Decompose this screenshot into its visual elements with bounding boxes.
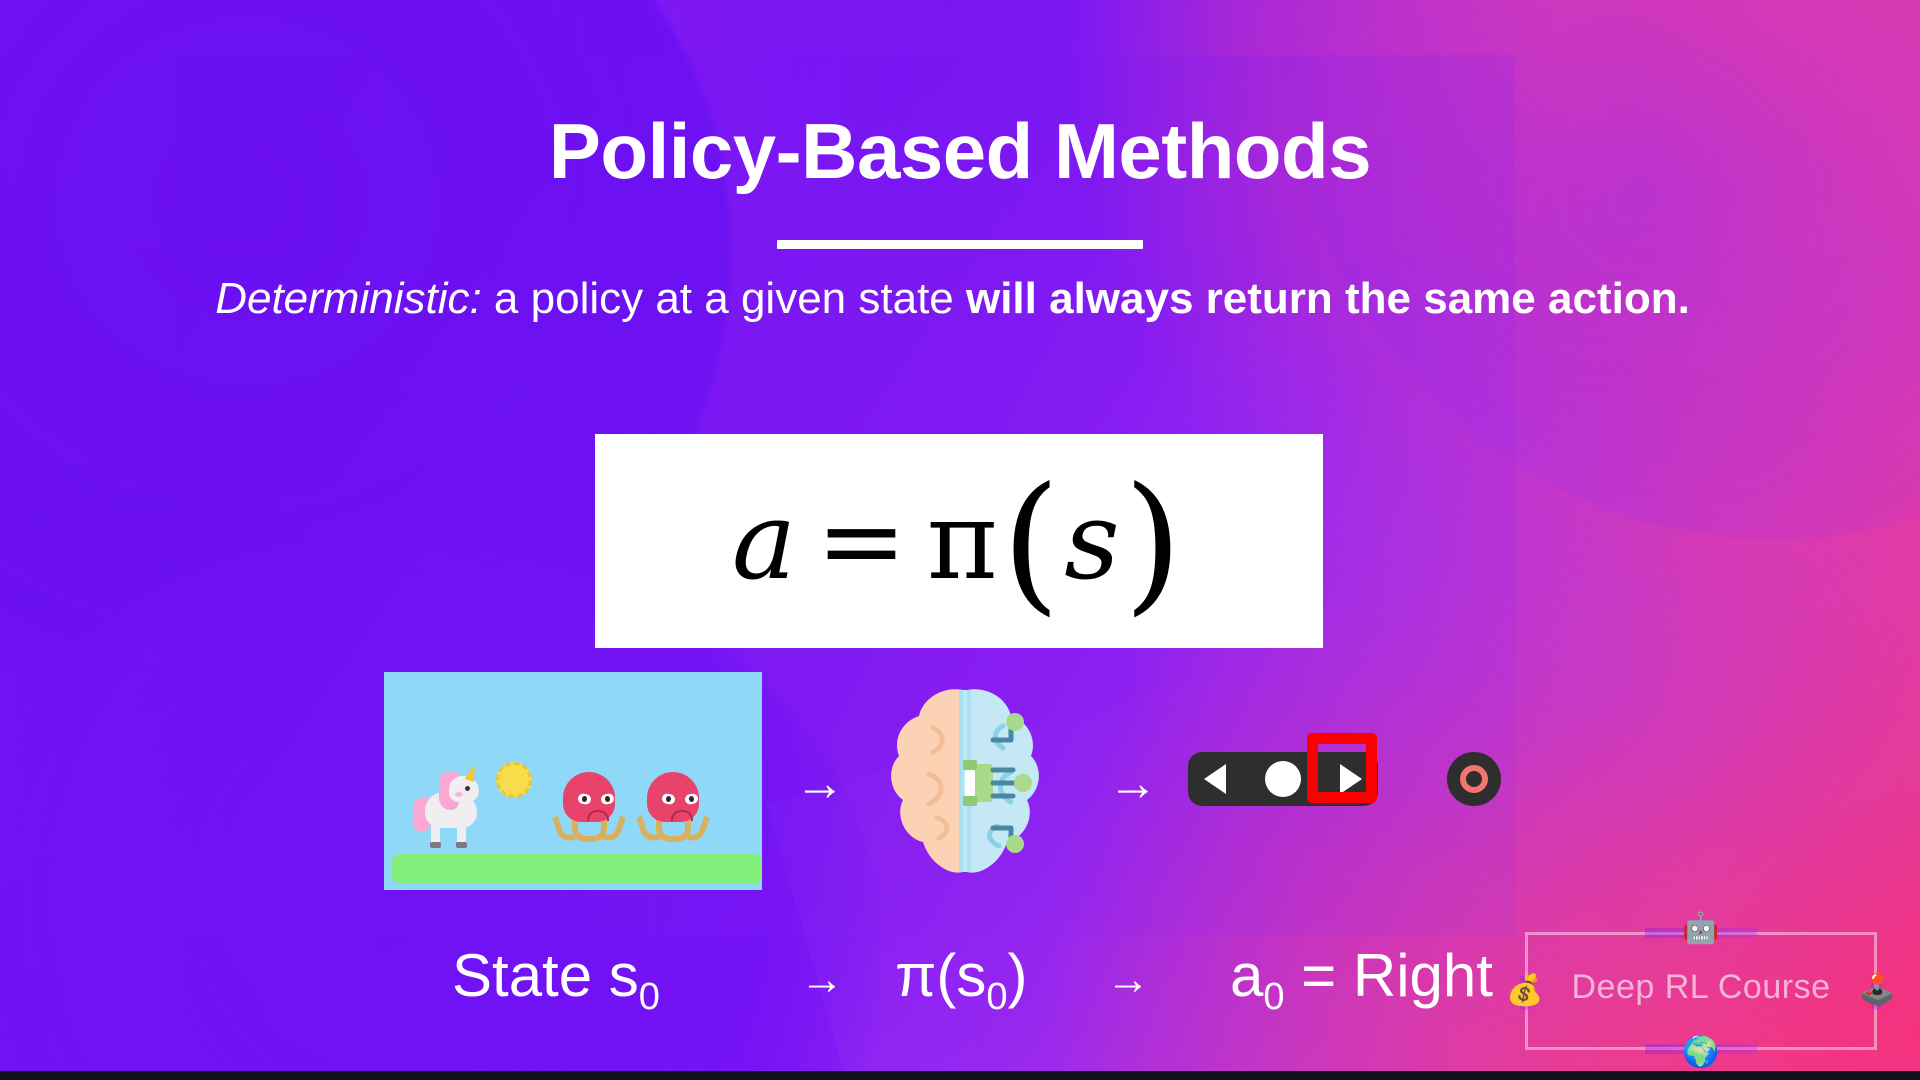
unicorn-cheek [455,792,463,797]
game-enemy-octopus [640,772,706,846]
formula-expression: a=π(s) [732,479,1186,604]
game-coin [496,762,532,798]
caption-state: State s0 [452,946,660,1016]
caption-state-subscript: 0 [639,976,660,1018]
octopus-eye [577,793,592,805]
subtitle-text: Deterministic: a policy at a given state… [190,272,1715,326]
pipeline-row: → [0,672,1920,894]
octopus-mouth [671,810,693,821]
joystick-icon: 🕹️ [1859,976,1896,1006]
octopus-eye [600,793,615,805]
formula-operator: = [800,479,927,604]
game-unicorn-agent [409,764,483,850]
dpad-knob-icon[interactable] [1265,761,1301,797]
octopus-eye [684,793,699,805]
formula-open-paren: ( [1002,456,1065,630]
formula-argument: s [1064,479,1123,604]
subtitle-bold: will always return the same action. [966,274,1690,323]
octopus-eye [661,793,676,805]
caption-arrow-1: → [800,958,844,1002]
watermark: Deep RL Course 🤖 🌍 💰 🕹️ [1525,932,1877,1050]
game-screenshot [384,672,762,890]
pipeline-arrow-1: → [795,758,845,808]
subtitle-middle: a policy at a given state [482,274,966,323]
unicorn-eye [465,786,470,791]
caption-policy-prefix: π(s [895,942,986,1009]
octopus-mouth [587,810,609,821]
caption-action-suffix: = Right [1285,942,1493,1009]
selected-action-highlight [1307,733,1377,803]
action-button-ring-icon [1460,765,1488,793]
page-title: Policy-Based Methods [0,112,1920,190]
globe-icon: 🌍 [1682,1038,1719,1068]
caption-state-text: State s [452,942,639,1009]
caption-policy: π(s0) [895,946,1028,1016]
octopus-head [647,772,699,822]
unicorn-leg [431,824,440,848]
formula-card: a=π(s) [595,434,1323,648]
slide-stage: Policy-Based Methods Deterministic: a po… [0,0,1920,1080]
caption-action-subscript: 0 [1263,976,1284,1018]
unicorn-horn [465,763,480,782]
left-arrow-icon[interactable] [1204,764,1226,794]
bottom-bar [0,1071,1920,1080]
slide-canvas: Policy-Based Methods Deterministic: a po… [0,0,1920,1080]
action-button[interactable] [1447,752,1501,806]
unicorn-leg [457,824,466,848]
caption-policy-suffix: ) [1008,942,1028,1009]
money-bag-icon: 💰 [1506,976,1543,1006]
brain-icon [885,682,1045,882]
robot-icon: 🤖 [1682,914,1719,944]
caption-action: a0 = Right [1230,946,1493,1016]
caption-arrow-2: → [1106,958,1150,1002]
game-enemy-octopus [556,772,622,846]
pipeline-arrow-2: → [1108,758,1158,808]
subtitle-lead-italic: Deterministic: [215,274,482,323]
formula-pi-symbol: π [927,479,1002,604]
game-ground [392,854,762,884]
caption-action-prefix: a [1230,942,1263,1009]
watermark-label: Deep RL Course [1525,970,1877,1004]
formula-lhs: a [732,479,800,604]
caption-policy-subscript: 0 [986,976,1007,1018]
octopus-head [563,772,615,822]
formula-close-paren: ) [1124,456,1187,630]
title-divider [777,240,1143,249]
